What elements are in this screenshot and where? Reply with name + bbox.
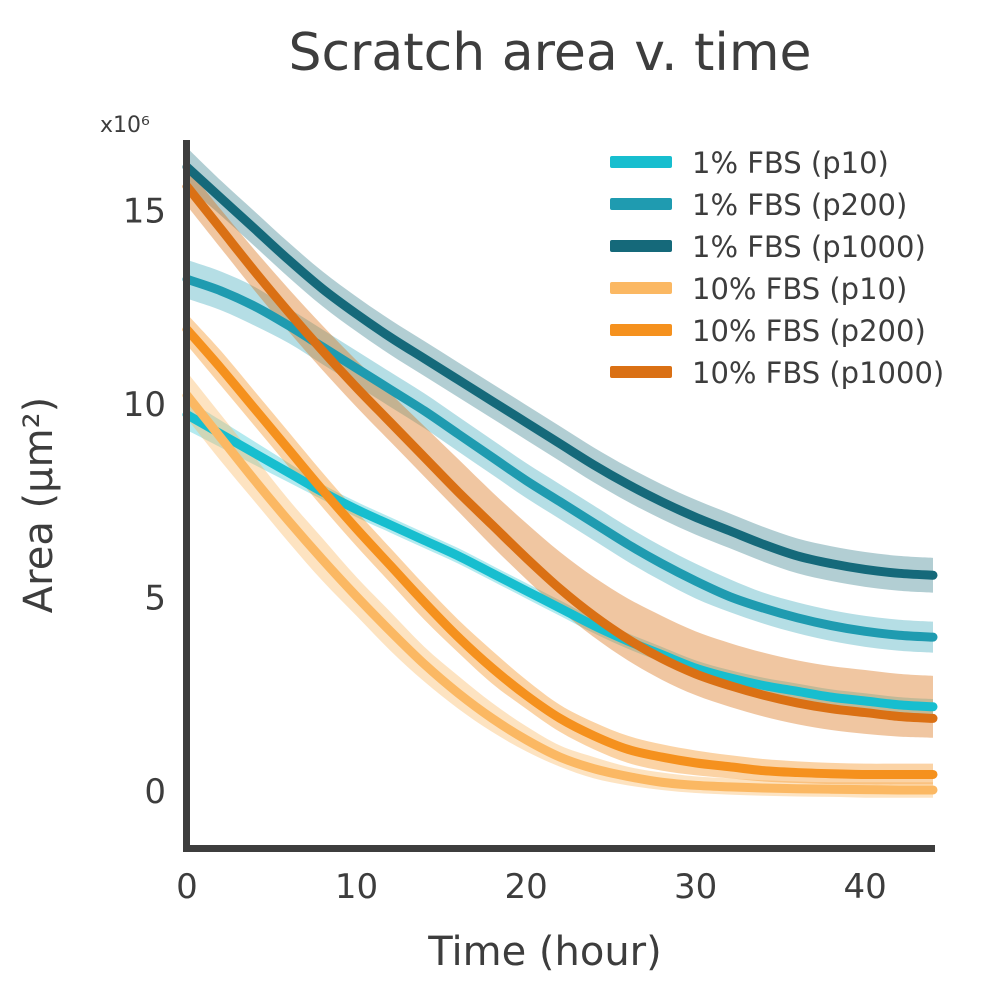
y-axis-multiplier-label: x10⁶ [100,113,150,138]
y-axis-label: Area (μm²) [16,397,62,613]
chart-figure: Scratch area v. time x10⁶ Area (μm²) Tim… [0,0,1001,1001]
legend-label-3[interactable]: 10% FBS (p10) [692,272,907,306]
legend-swatch-4[interactable] [610,324,672,336]
scratch-area-line-chart: Scratch area v. time x10⁶ Area (μm²) Tim… [0,0,1001,1001]
legend-swatch-3[interactable] [610,282,672,294]
legend-label-2[interactable]: 1% FBS (p1000) [692,230,926,264]
x-tick-10: 10 [335,867,378,907]
chart-title: Scratch area v. time [288,23,811,83]
legend-swatch-5[interactable] [610,366,672,378]
x-tick-30: 30 [674,867,717,907]
legend-swatch-1[interactable] [610,198,672,210]
x-tick-20: 20 [504,867,547,907]
legend-swatch-0[interactable] [610,156,672,168]
legend-label-5[interactable]: 10% FBS (p1000) [692,356,944,390]
y-tick-0: 0 [144,772,166,812]
y-tick-5: 5 [144,579,166,619]
x-axis-label: Time (hour) [427,929,661,975]
x-tick-0: 0 [176,867,198,907]
x-tick-40: 40 [844,867,887,907]
legend-label-1[interactable]: 1% FBS (p200) [692,188,907,222]
legend-label-0[interactable]: 1% FBS (p10) [692,146,889,180]
y-tick-15: 15 [123,192,166,232]
legend-label-4[interactable]: 10% FBS (p200) [692,314,926,348]
y-tick-10: 10 [123,385,166,425]
legend-swatch-2[interactable] [610,240,672,252]
